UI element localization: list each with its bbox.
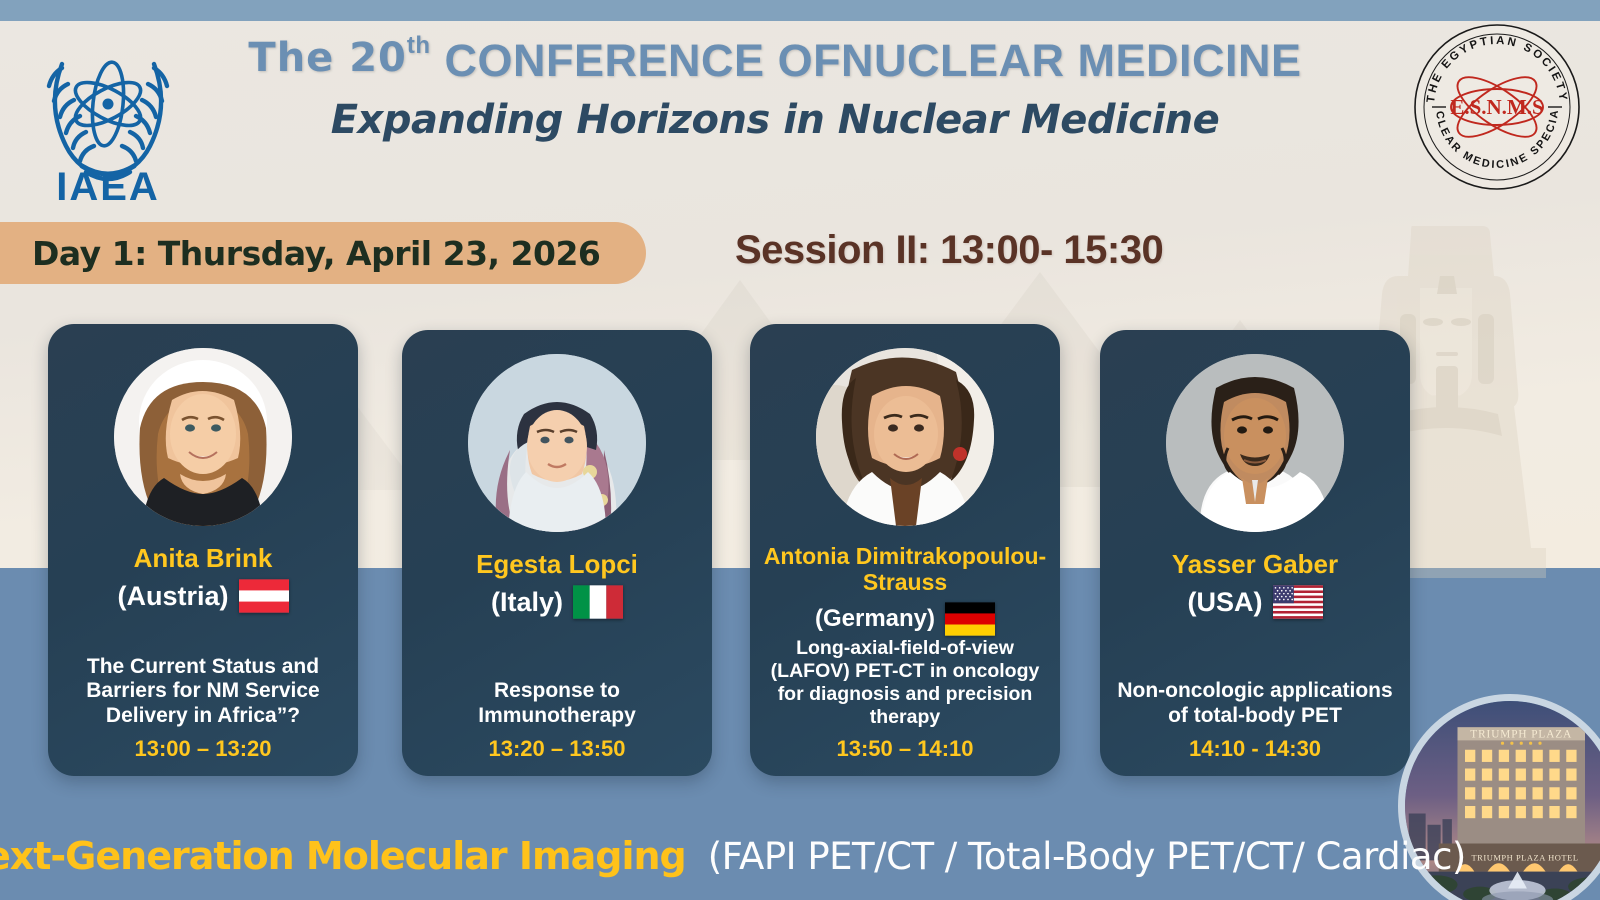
speaker-country: (Austria) [117,581,228,612]
avatar-antonia-dimitrakopoulou-strauss [816,348,994,526]
speaker-country: (Germany) [815,605,935,633]
speaker-name: Yasser Gaber [1172,550,1338,579]
flag-italy [573,585,623,619]
avatar-egesta-lopci [468,354,646,532]
speaker-card[interactable]: Antonia Dimitrakopoulou-Strauss (Germany… [750,324,1060,776]
speaker-cards: Anita Brink (Austria) The Current Status… [0,0,1600,900]
flag-usa [1273,585,1323,619]
speaker-time: 13:00 – 13:20 [135,736,272,762]
speaker-name: Egesta Lopci [476,550,638,579]
speaker-topic: Long-axial-field-of-view (LAFOV) PET-CT … [762,637,1048,729]
footer-theme: Next-Generation Molecular Imaging (FAPI … [0,834,1420,878]
speaker-origin: (USA) [1188,585,1323,619]
speaker-topic: The Current Status and Barriers for NM S… [60,655,346,729]
avatar-yasser-gaber [1166,354,1344,532]
flag-germany [945,602,995,636]
footer-detail: (FAPI PET/CT / Total-Body PET/CT/ Cardia… [708,835,1466,878]
svg-text:TRIUMPH PLAZA: TRIUMPH PLAZA [1470,729,1572,741]
speaker-card[interactable]: Egesta Lopci (Italy) Response to Immunot… [402,330,712,776]
speaker-topic: Non-oncologic applications of total-body… [1112,679,1398,729]
speaker-name: Antonia Dimitrakopoulou-Strauss [762,544,1048,596]
speaker-origin: (Germany) [815,602,995,636]
speaker-origin: (Austria) [117,579,288,613]
svg-text:TRIUMPH PLAZA HOTEL: TRIUMPH PLAZA HOTEL [1471,852,1578,862]
conference-poster: IAEA The 20thCONFERENCE OFNUCLEAR MEDICI… [0,0,1600,900]
speaker-time: 14:10 - 14:30 [1189,736,1321,762]
avatar-anita-brink [114,348,292,526]
speaker-country: (Italy) [491,587,563,618]
speaker-card[interactable]: Anita Brink (Austria) The Current Status… [48,324,358,776]
footer-highlight: Next-Generation Molecular Imaging [0,834,686,878]
speaker-origin: (Italy) [491,585,623,619]
flag-austria [239,579,289,613]
speaker-time: 13:20 – 13:50 [489,736,626,762]
speaker-topic: Response to Immunotherapy [414,679,700,729]
speaker-time: 13:50 – 14:10 [837,736,974,762]
speaker-name: Anita Brink [134,544,273,573]
speaker-country: (USA) [1188,587,1263,618]
speaker-card[interactable]: Yasser Gaber (USA) [1100,330,1410,776]
